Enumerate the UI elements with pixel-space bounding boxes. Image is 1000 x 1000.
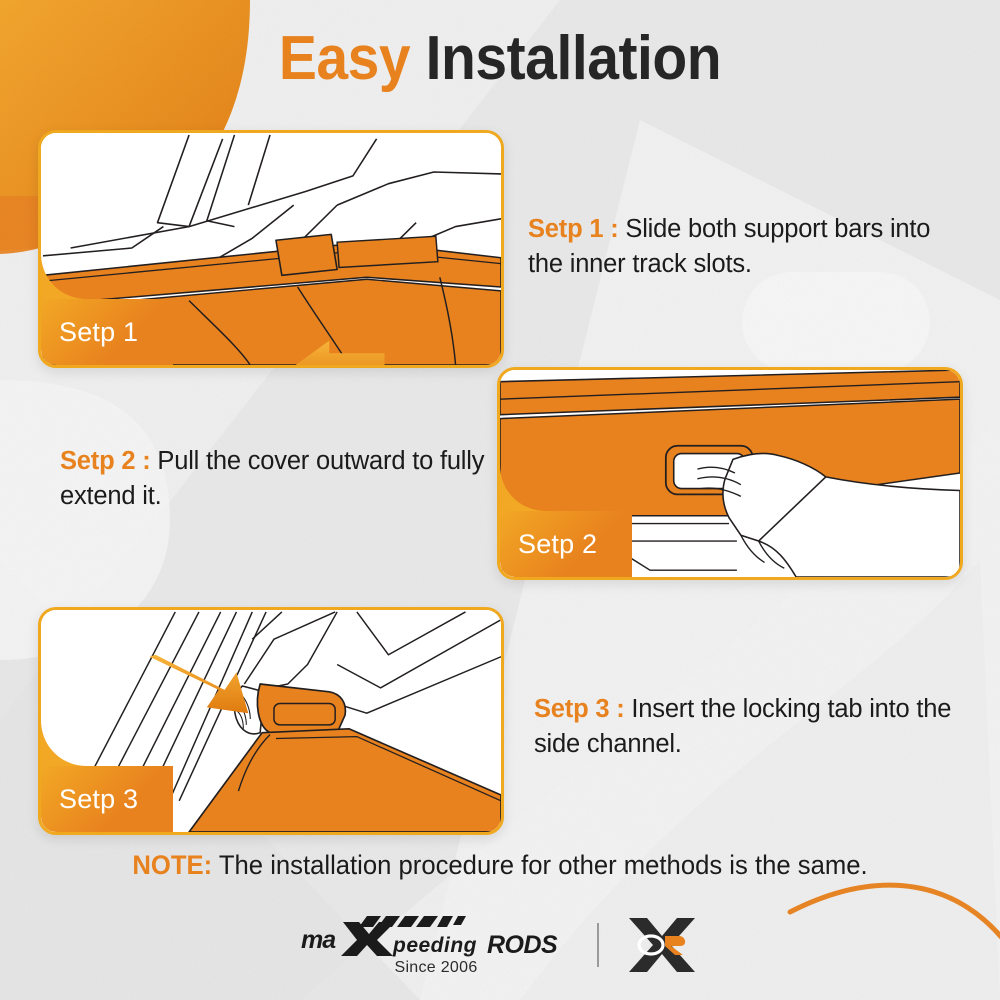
note-line: NOTE: The installation procedure for oth… [25,850,975,881]
step-1-instruction: Setp 1 : Slide both support bars into th… [528,212,968,282]
title-highlight: Easy [279,24,410,93]
step-1-badge: Setp 1 [41,299,173,365]
step-1-label: Setp 1 : [528,215,619,243]
since-text: Since 2006 [394,959,477,977]
step-2-label: Setp 2 : [60,447,151,475]
step-3-badge-label: Setp 3 [59,784,138,815]
step-2-badge-label: Setp 2 [518,529,597,560]
step-3-instruction: Setp 3 : Insert the locking tab into the… [534,692,954,762]
maxpeedingrods-logo: ma peeding RODS Since 2006 [301,914,571,977]
footer-divider [597,923,599,967]
decor-pill [742,272,930,372]
oxr-logo [625,916,699,974]
svg-text:ma: ma [301,926,336,954]
step-3-label: Setp 3 : [534,695,625,723]
title-rest: Installation [426,24,722,93]
easy-installation-infographic: Easy Installation [0,0,1000,1000]
page-title: Easy Installation [40,28,960,90]
note-text: The installation procedure for other met… [219,850,868,880]
svg-text:RODS: RODS [487,931,558,958]
step-2-image-card: Setp 2 [497,367,963,580]
note-label: NOTE: [132,850,212,880]
step-1-badge-label: Setp 1 [59,317,138,348]
step-2-instruction: Setp 2 : Pull the cover outward to fully… [60,444,490,514]
svg-text:peeding: peeding [392,934,477,957]
step-2-badge: Setp 2 [500,511,632,577]
step-3-image-card: Setp 3 [38,607,504,835]
step-1-image-card: Setp 1 [38,130,504,368]
step-3-badge: Setp 3 [41,766,173,832]
maxpeedingrods-wordmark: ma peeding RODS [301,914,571,958]
footer-logos: ma peeding RODS Since 2006 [0,905,1000,985]
